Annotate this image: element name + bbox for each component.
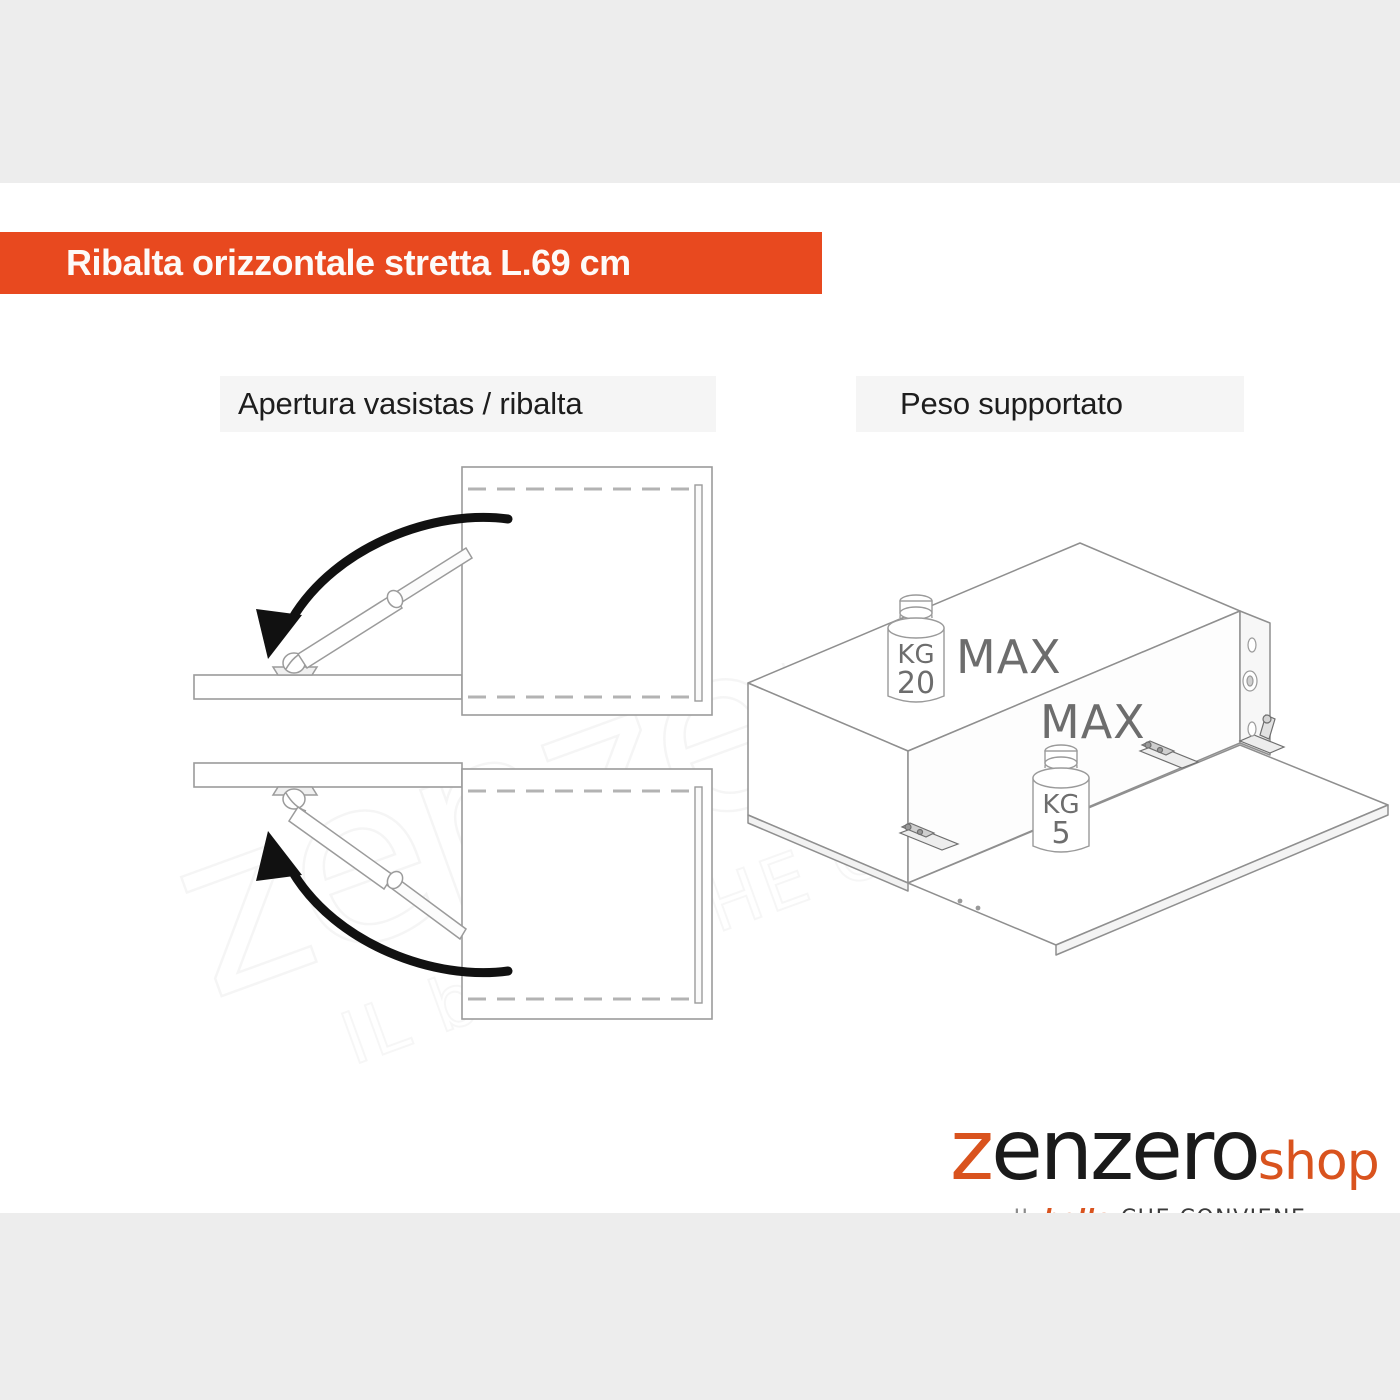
cabinet-body xyxy=(462,467,712,715)
logo-shop: shop xyxy=(1258,1132,1379,1192)
cabinet-back-post xyxy=(695,485,702,701)
logo-z: z xyxy=(950,1101,991,1199)
logo-middle: enzero xyxy=(991,1101,1258,1199)
gas-piston xyxy=(273,548,472,675)
content-canvas: Ribalta orizzontale stretta L.69 cm Aper… xyxy=(0,183,1400,1213)
gas-piston xyxy=(273,787,466,939)
page-title: Ribalta orizzontale stretta L.69 cm xyxy=(0,242,631,284)
diagram-flap-opening xyxy=(190,743,720,1033)
diagram-cabinet-isometric: KG 20 MAX MAX KG 5 xyxy=(740,533,1400,983)
section-label-opening: Apertura vasistas / ribalta xyxy=(220,376,716,432)
shelf-panel xyxy=(194,763,462,787)
weight-max-label-top: MAX xyxy=(956,630,1062,684)
infographic-page: Ribalta orizzontale stretta L.69 cm Aper… xyxy=(0,0,1400,1400)
tagline-bello: bello xyxy=(1044,1206,1112,1213)
cabinet-body xyxy=(462,769,712,1019)
cabinet-back-post xyxy=(695,787,702,1003)
title-banner: Ribalta orizzontale stretta L.69 cm xyxy=(0,232,822,294)
logo-tagline: IL bello CHE CONVIENE xyxy=(950,1206,1370,1213)
weight-value-flap: 5 xyxy=(1051,816,1070,851)
weight-max-label-flap: MAX xyxy=(1040,695,1146,749)
tagline-rest: CHE CONVIENE xyxy=(1121,1206,1307,1213)
diagram-flap-closing xyxy=(190,463,720,733)
shelf-panel xyxy=(194,675,462,699)
logo-wordmark: zenzeroshop xyxy=(950,1108,1370,1204)
section-label-weight-text: Peso supportato xyxy=(856,386,1123,422)
brand-logo: zenzeroshop IL bello CHE CONVIENE xyxy=(950,1108,1370,1213)
section-label-weight: Peso supportato xyxy=(856,376,1244,432)
section-label-opening-text: Apertura vasistas / ribalta xyxy=(220,386,582,422)
weight-value-top: 20 xyxy=(897,666,935,701)
tagline-il: IL xyxy=(1014,1206,1036,1213)
